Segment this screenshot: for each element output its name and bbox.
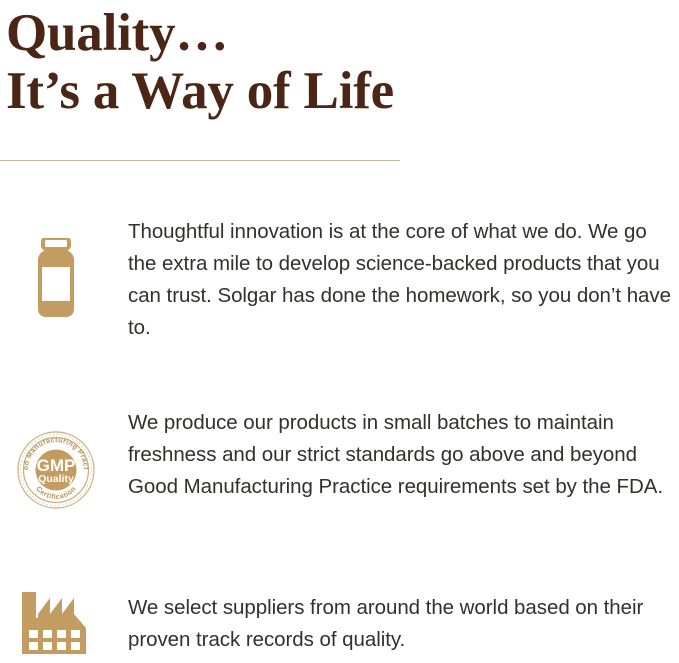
divider bbox=[0, 160, 400, 161]
supplement-bottle-icon-wrap bbox=[0, 216, 112, 318]
list-item-text: We select suppliers from around the worl… bbox=[128, 592, 679, 656]
gmp-quality-seal-icon-wrap: Good Manufacturing Practice Certificatio… bbox=[0, 407, 112, 510]
gmp-center-sub-label: Quality bbox=[38, 473, 74, 485]
page-title-line-1: Quality… bbox=[6, 2, 394, 64]
page-title: Quality… It’s a Way of Life bbox=[6, 2, 394, 122]
list-item-text: We produce our products in small batches… bbox=[128, 407, 679, 503]
list-item-text: Thoughtful innovation is at the core of … bbox=[128, 216, 679, 344]
factory-icon-wrap bbox=[0, 592, 112, 656]
page-title-line-2: It’s a Way of Life bbox=[6, 60, 394, 122]
factory-icon bbox=[19, 592, 93, 656]
supplement-bottle-icon bbox=[29, 238, 83, 318]
gmp-quality-seal-icon: Good Manufacturing Practice Certificatio… bbox=[16, 430, 96, 510]
quality-brand-panel: Quality… It’s a Way of Life Thoughtful i… bbox=[0, 0, 679, 663]
